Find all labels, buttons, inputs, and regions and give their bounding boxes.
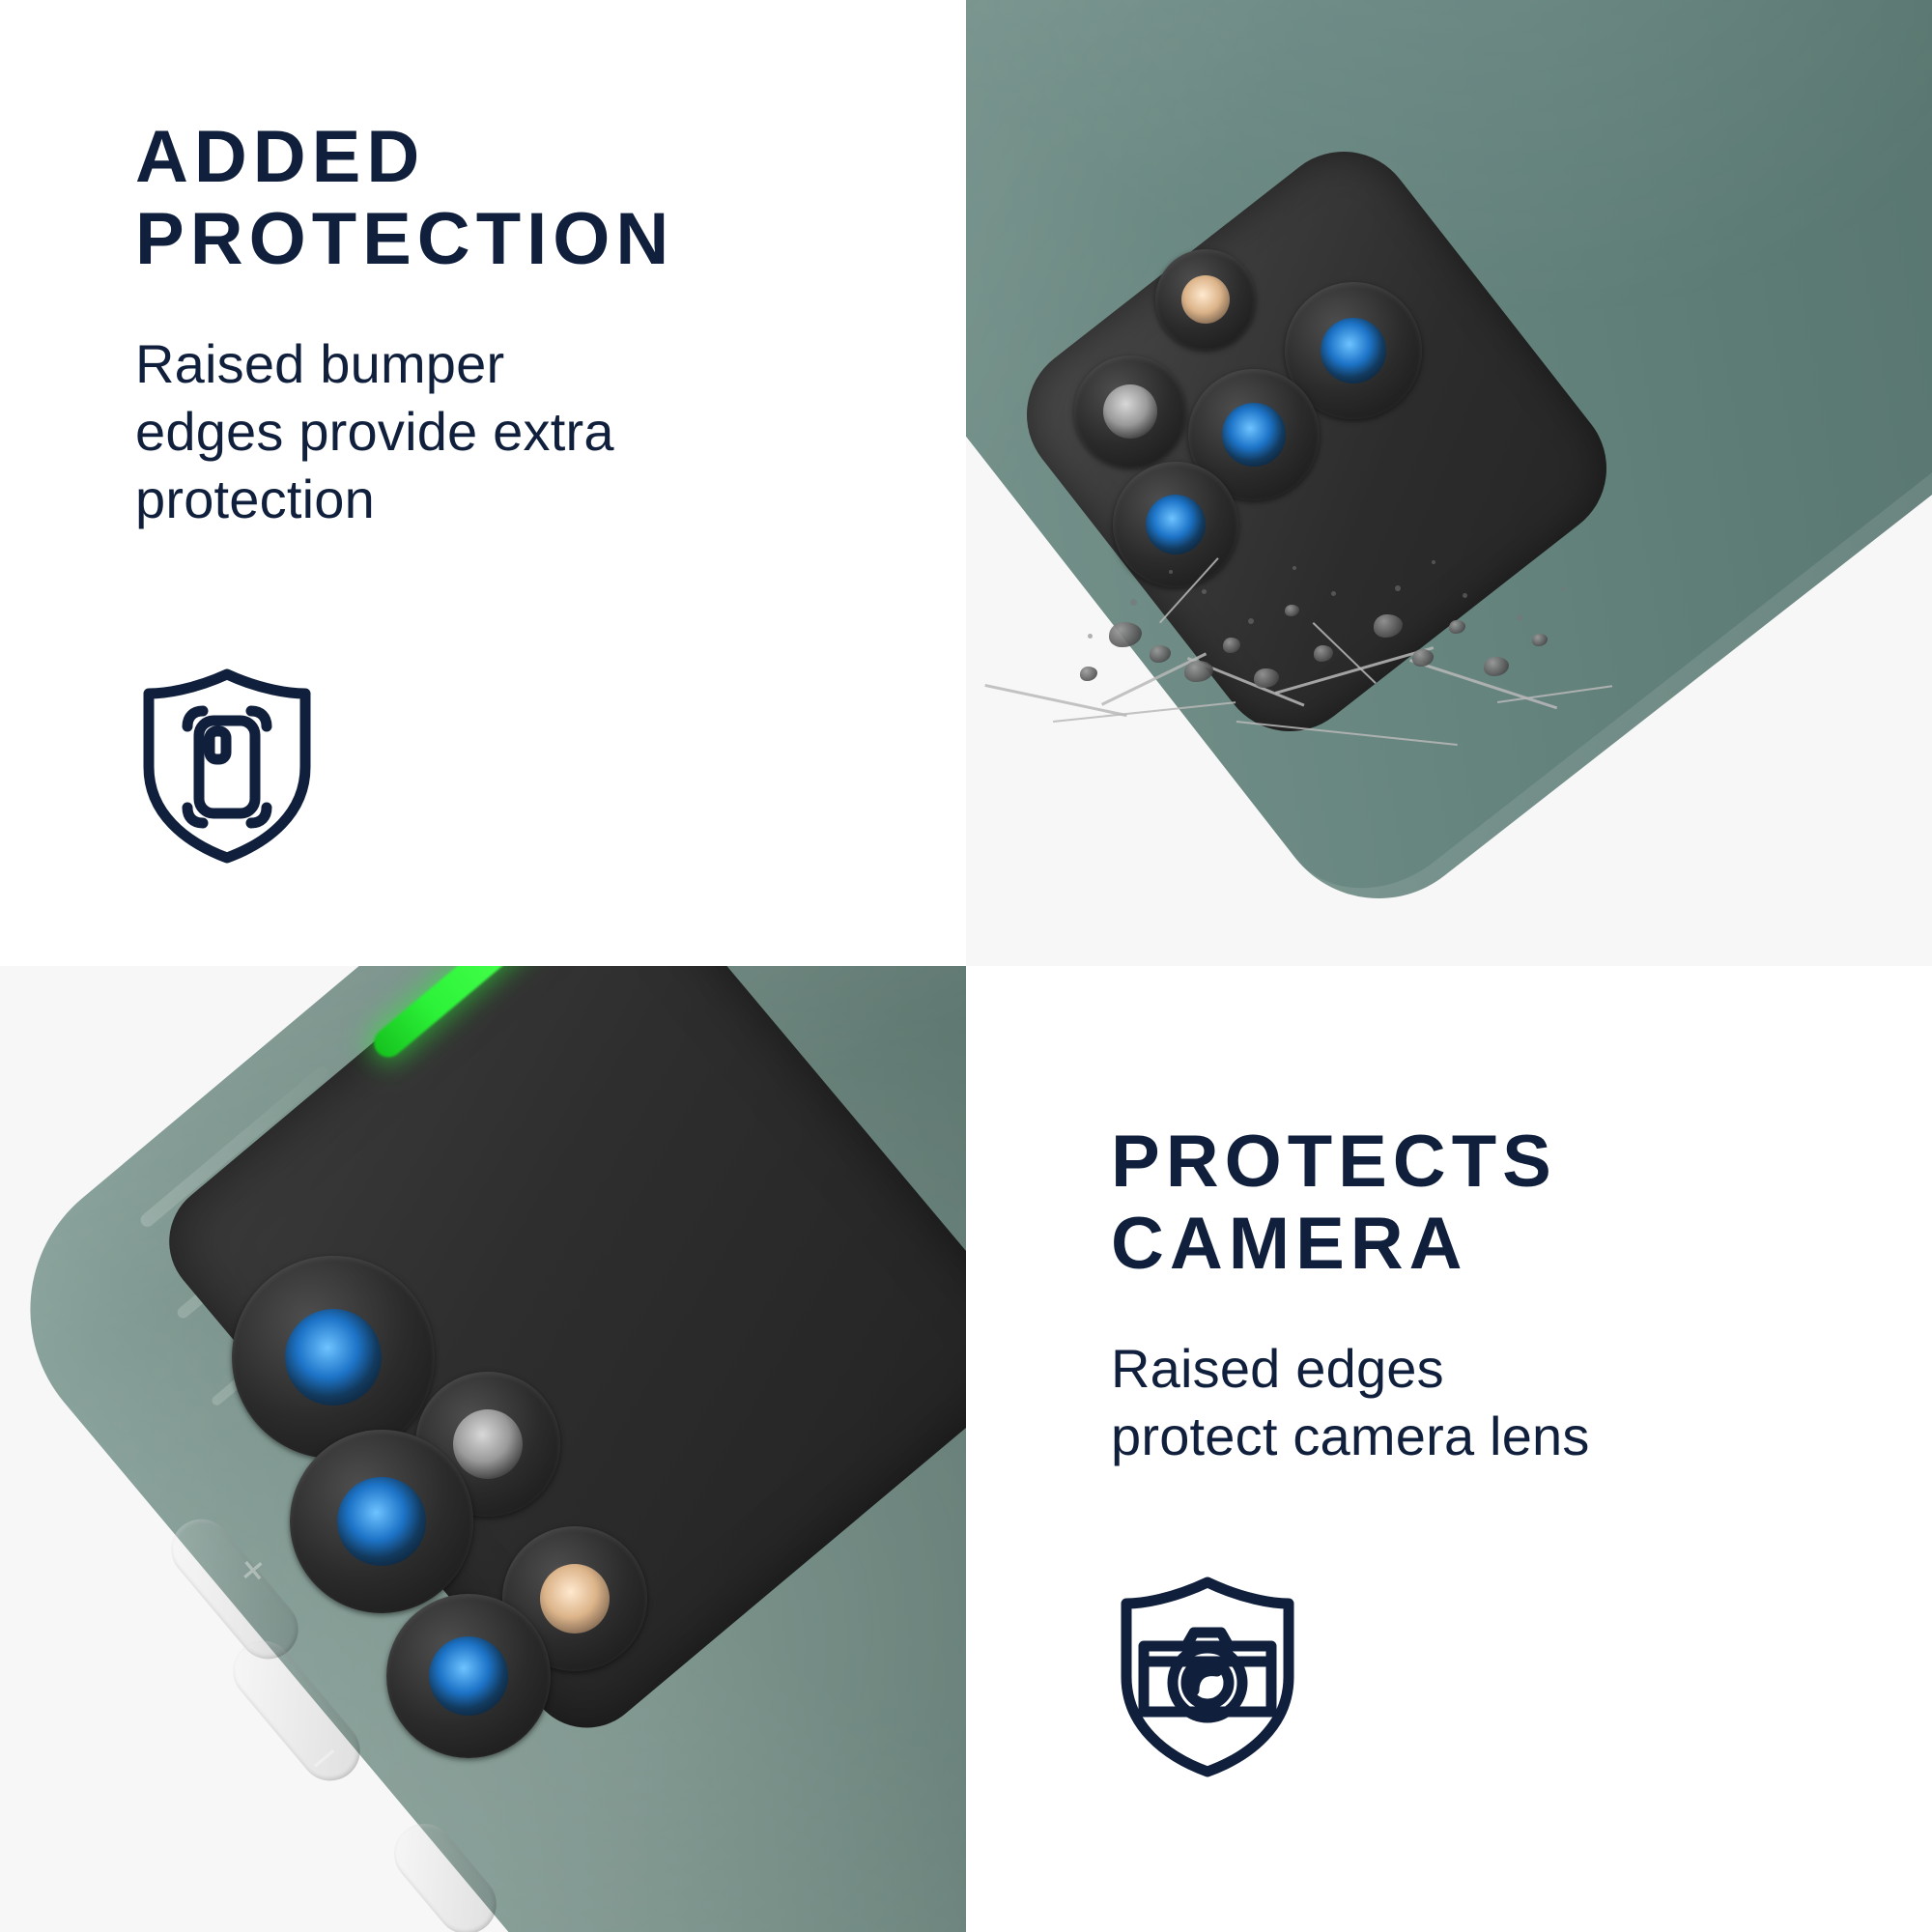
camera-lens — [232, 1256, 435, 1459]
impact-photo-canvas — [966, 0, 1932, 966]
protects-camera-headline: PROTECTS CAMERA — [1111, 1121, 1884, 1285]
camera-lens — [1155, 249, 1256, 350]
camera-lens — [386, 1594, 551, 1758]
added-protection-headline: ADDED PROTECTION — [135, 116, 850, 280]
panel-protects-camera: PROTECTS CAMERA Raised edges protect cam… — [966, 966, 1932, 1932]
panel-impact-photo — [966, 0, 1932, 966]
panel-added-protection: ADDED PROTECTION Raised bumper edges pro… — [0, 0, 966, 966]
shield-camera-icon — [1111, 1575, 1304, 1777]
camera-lens — [290, 1430, 473, 1613]
panel-camera-photo: + – — [0, 966, 966, 1932]
added-protection-text: ADDED PROTECTION Raised bumper edges pro… — [135, 116, 850, 533]
added-protection-subtext: Raised bumper edges provide extra protec… — [135, 330, 850, 533]
camera-photo-canvas: + – — [0, 966, 966, 1932]
protects-camera-text: PROTECTS CAMERA Raised edges protect cam… — [1111, 1121, 1884, 1470]
shield-phone-icon — [135, 667, 319, 865]
camera-lens — [1074, 355, 1186, 468]
feature-grid: ADDED PROTECTION Raised bumper edges pro… — [0, 0, 1932, 1932]
protects-camera-subtext: Raised edges protect camera lens — [1111, 1335, 1884, 1470]
camera-lens — [1113, 462, 1238, 587]
